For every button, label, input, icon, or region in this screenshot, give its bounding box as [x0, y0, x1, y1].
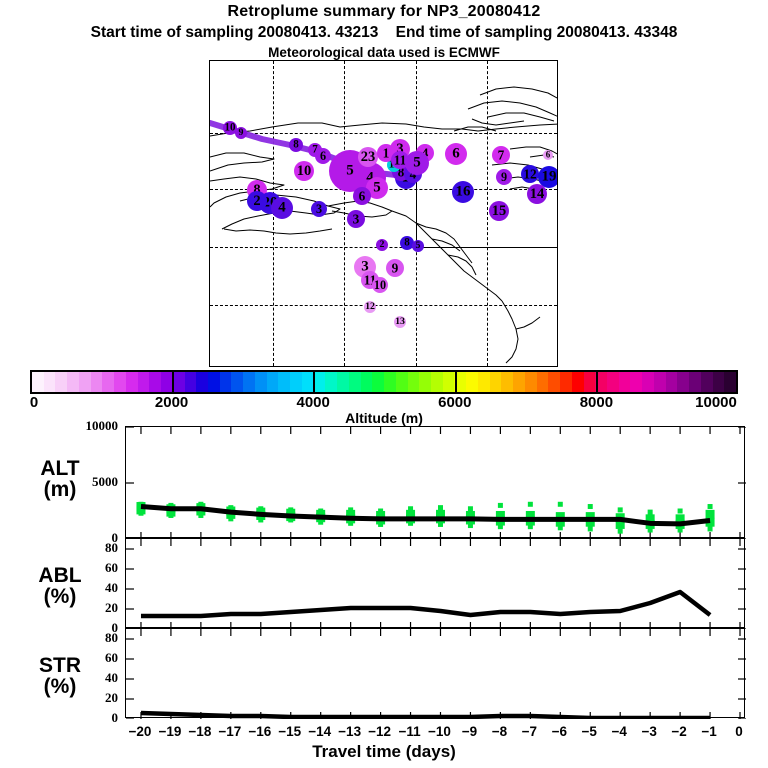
colorbar-swatch [32, 372, 44, 392]
y-tick-label: 60 [0, 560, 118, 576]
colorbar-swatch [713, 372, 725, 392]
colorbar-swatch [278, 372, 290, 392]
colorbar-swatch [325, 372, 337, 392]
map-marker-label: 10 [374, 279, 386, 291]
y-tick-label: 80 [0, 540, 118, 556]
y-tick-label: 10000 [0, 418, 118, 434]
scatter-marker [618, 507, 623, 512]
scatter-marker [228, 505, 233, 510]
map-marker-label: 9 [501, 171, 507, 183]
map-marker-label: 13 [395, 317, 405, 327]
colorbar-swatch [102, 372, 114, 392]
colorbar-swatch [372, 372, 384, 392]
y-tick-label: 80 [0, 630, 118, 646]
scatter-marker [468, 506, 473, 511]
map-marker-label: 8 [293, 139, 299, 150]
colorbar-swatch [196, 372, 208, 392]
series-line [141, 592, 710, 616]
page-title: Retroplume summary for NP3_20080412 [0, 3, 768, 21]
map-marker-label: 7 [498, 148, 505, 161]
scatter-marker [648, 510, 653, 515]
map-marker-label: 16 [456, 185, 471, 200]
x-tick-label: −16 [248, 724, 271, 739]
met-data-line: Meteorological data used is ECMWF [0, 45, 768, 60]
map-marker-label: 1 [383, 146, 390, 159]
sampling-time-line: Start time of sampling 20080413. 43213 E… [0, 24, 768, 42]
colorbar-swatch [384, 372, 396, 392]
map-marker-label: 5 [346, 164, 354, 179]
scatter-marker [258, 506, 263, 511]
colorbar-swatch [138, 372, 150, 392]
x-tick-label: −8 [492, 724, 507, 739]
colorbar-swatch [701, 372, 713, 392]
x-tick-label: −3 [641, 724, 656, 739]
colorbar-swatch [560, 372, 572, 392]
colorbar-swatch [537, 372, 549, 392]
colorbar-swatch [630, 372, 642, 392]
x-tick-label: −6 [552, 724, 567, 739]
scatter-marker [378, 509, 383, 514]
colorbar-swatch [337, 372, 349, 392]
colorbar-swatch [666, 372, 678, 392]
colorbar-swatch [490, 372, 502, 392]
colorbar-separator [172, 370, 174, 394]
scatter-marker [318, 509, 323, 514]
series-line [141, 713, 710, 718]
scatter-marker [588, 526, 593, 531]
x-tick-label: −13 [338, 724, 361, 739]
colorbar-separator [455, 370, 457, 394]
colorbar-swatch [302, 372, 314, 392]
y-tick-label: 40 [0, 580, 118, 596]
map-marker-label: 10 [224, 122, 235, 133]
colorbar-tick-label: 10000 [695, 394, 737, 411]
x-tick-label: −20 [129, 724, 152, 739]
map-marker-label: 10 [297, 164, 312, 179]
x-tick-label: −14 [308, 724, 331, 739]
scatter-marker [678, 509, 683, 514]
colorbar-swatch [466, 372, 478, 392]
chart-abl [125, 538, 745, 628]
colorbar-swatch [443, 372, 455, 392]
x-tick-label: −5 [582, 724, 597, 739]
colorbar-swatch [513, 372, 525, 392]
colorbar-swatch [419, 372, 431, 392]
colorbar-swatch [431, 372, 443, 392]
colorbar-swatch [478, 372, 490, 392]
colorbar-tick-label: 6000 [438, 394, 471, 411]
colorbar-swatch [44, 372, 56, 392]
altitude-colorbar [30, 370, 738, 394]
map-marker-label: 23 [361, 150, 376, 165]
colorbar-swatch [572, 372, 584, 392]
map-marker-label: 2 [253, 194, 260, 209]
map-marker-label: 6 [320, 150, 326, 162]
colorbar-tick-label: 8000 [580, 394, 613, 411]
x-tick-label: −11 [398, 724, 420, 739]
chart-str [125, 628, 745, 718]
colorbar-tick-label: 4000 [297, 394, 330, 411]
map-marker-label: 5 [413, 156, 421, 171]
colorbar-swatch [689, 372, 701, 392]
colorbar-separator [596, 370, 598, 394]
colorbar-swatch [290, 372, 302, 392]
colorbar-swatch [396, 372, 408, 392]
colorbar-swatch [314, 372, 326, 392]
scatter-marker [708, 504, 713, 509]
x-tick-label: −19 [158, 724, 181, 739]
colorbar-swatch [607, 372, 619, 392]
colorbar-swatch [548, 372, 560, 392]
scatter-marker [558, 502, 563, 507]
map-marker-label: 9 [392, 261, 399, 274]
x-axis-tick-labels: −20−19−18−17−16−15−14−13−12−11−10−9−8−7−… [0, 724, 768, 744]
colorbar-swatch [114, 372, 126, 392]
map-marker-label: 9 [239, 128, 244, 138]
map-marker-label: 5 [373, 181, 381, 196]
x-tick-label: −10 [428, 724, 451, 739]
scatter-marker [408, 506, 413, 511]
chart-canvas [126, 629, 746, 719]
map-marker-label: 3 [353, 212, 360, 225]
x-tick-label: −2 [671, 724, 686, 739]
map-marker-label: 5 [416, 241, 421, 251]
timeseries-area: ALT (m) ABL (%) STR (%) 0500010000020406… [0, 424, 768, 768]
scatter-marker [706, 510, 715, 519]
colorbar-swatch [361, 372, 373, 392]
x-tick-label: −9 [462, 724, 477, 739]
scatter-marker [198, 502, 203, 507]
y-tick-label: 40 [0, 670, 118, 686]
map-marker-label: 12 [365, 302, 375, 312]
colorbar-swatch [231, 372, 243, 392]
scatter-marker [348, 507, 353, 512]
colorbar-swatch [255, 372, 267, 392]
colorbar-swatch [642, 372, 654, 392]
map-marker-label: 4 [278, 201, 286, 216]
y-tick-label: 60 [0, 650, 118, 666]
scatter-marker [708, 526, 713, 531]
map-marker-label: 15 [492, 204, 507, 219]
colorbar-swatch [79, 372, 91, 392]
x-tick-label: −7 [522, 724, 537, 739]
map-marker-label: 6 [452, 147, 460, 162]
colorbar-swatch [654, 372, 666, 392]
retroplume-map: 1098876105456204232811231311445679121961… [209, 60, 558, 367]
map-marker-label: 6 [359, 189, 366, 202]
map-marker-label: 8 [404, 237, 410, 248]
colorbar-swatch [55, 372, 67, 392]
x-tick-label: −1 [701, 724, 716, 739]
y-tick-label: 20 [0, 600, 118, 616]
x-tick-label: 0 [735, 724, 743, 739]
scatter-marker [528, 502, 533, 507]
chart-canvas [126, 539, 746, 629]
colorbar-swatch [126, 372, 138, 392]
y-tick-label: 5000 [0, 474, 118, 490]
map-marker-label: 14 [530, 187, 545, 202]
colorbar-swatch [243, 372, 255, 392]
colorbar-swatch [501, 372, 513, 392]
scatter-marker [588, 504, 593, 509]
colorbar-swatch [173, 372, 185, 392]
colorbar-swatch [408, 372, 420, 392]
colorbar-tick-label: 2000 [155, 394, 188, 411]
x-tick-label: −12 [368, 724, 391, 739]
scatter-marker [438, 505, 443, 510]
colorbar-swatch [677, 372, 689, 392]
chart-alt [125, 426, 745, 538]
colorbar-separator [313, 370, 315, 394]
colorbar-swatch [149, 372, 161, 392]
colorbar-swatch [619, 372, 631, 392]
colorbar-swatch [267, 372, 279, 392]
map-marker-label: 6 [546, 151, 551, 160]
colorbar-swatch [349, 372, 361, 392]
chart-canvas [126, 427, 746, 539]
x-tick-label: −4 [611, 724, 626, 739]
header-block: Retroplume summary for NP3_20080412 Star… [0, 0, 768, 60]
colorbar-swatch [525, 372, 537, 392]
colorbar-swatch [91, 372, 103, 392]
map-marker-label: 2 [380, 240, 385, 250]
colorbar-swatch [220, 372, 232, 392]
colorbar-swatch [67, 372, 79, 392]
colorbar-swatch [584, 372, 596, 392]
scatter-marker [498, 503, 503, 508]
map-marker-label: 3 [316, 203, 322, 215]
y-tick-label: 20 [0, 690, 118, 706]
x-tick-label: −18 [188, 724, 211, 739]
colorbar-swatch [208, 372, 220, 392]
colorbar-swatch [724, 372, 736, 392]
map-inner: 1098876105456204232811231311445679121961… [210, 61, 557, 366]
colorbar-swatch [185, 372, 197, 392]
map-marker-label: 12 [523, 167, 536, 180]
colorbar-tick-label: 0 [30, 394, 38, 411]
map-marker-label: 19 [542, 170, 557, 185]
x-axis-title: Travel time (days) [0, 742, 768, 762]
x-tick-label: −15 [278, 724, 301, 739]
scatter-marker [618, 529, 623, 534]
scatter-marker [288, 507, 293, 512]
x-tick-label: −17 [218, 724, 241, 739]
